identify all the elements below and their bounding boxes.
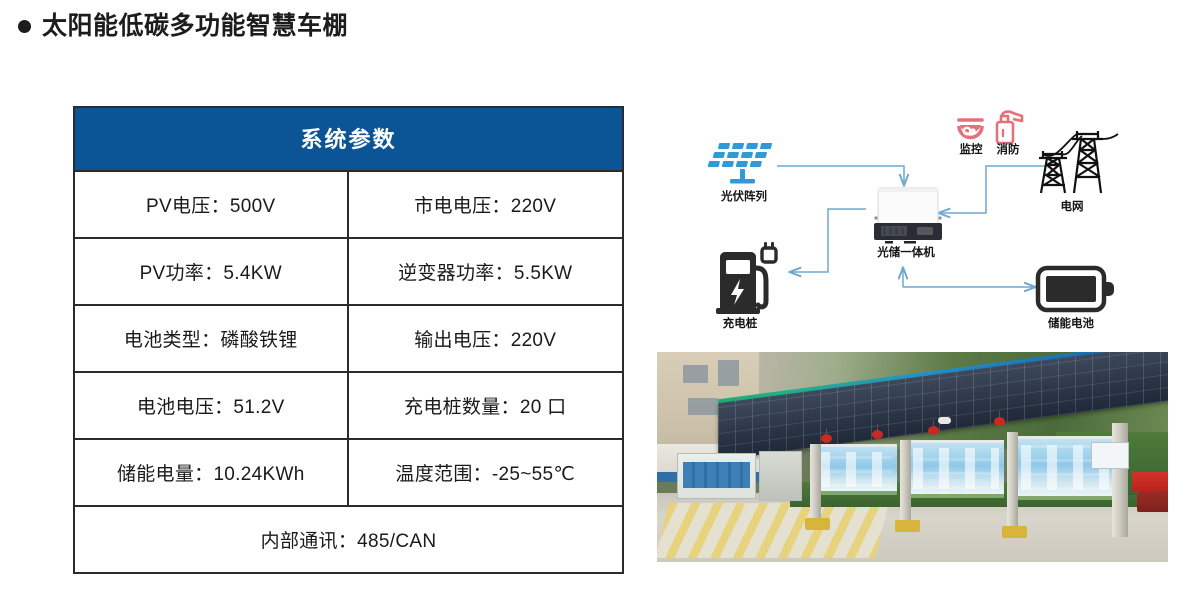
table-cell-temperature-range: 温度范围：-25~55℃	[349, 440, 623, 505]
photo-board-graphics	[820, 452, 892, 487]
table-cell-battery-type: 电池类型：磷酸铁锂	[75, 306, 349, 371]
photo-parked-car	[1137, 491, 1168, 512]
flow-pv-to-unit	[777, 166, 904, 185]
photo-board-graphics	[913, 448, 998, 488]
page-title-text: 太阳能低碳多功能智慧车棚	[42, 14, 348, 39]
table-header: 系统参数	[75, 108, 622, 172]
table-row: PV功率：5.4KW 逆变器功率：5.5KW	[75, 239, 622, 306]
table-row: PV电压：500V 市电电压：220V	[75, 172, 622, 239]
system-parameters-table: 系统参数 PV电压：500V 市电电压：220V PV功率：5.4KW 逆变器功…	[73, 106, 624, 574]
page-title: 太阳能低碳多功能智慧车棚	[18, 14, 348, 39]
transmission-tower-icon	[1039, 131, 1118, 193]
label-pv-array: 光伏阵列	[720, 189, 767, 203]
label-hybrid-unit: 光储一体机	[876, 245, 935, 259]
photo-notice-sign	[1091, 442, 1129, 469]
photo-equipment-cabinet	[759, 451, 802, 501]
table-cell-storage-capacity: 储能电量：10.24KWh	[75, 440, 349, 505]
table-cell-output-voltage: 输出电压：220V	[349, 306, 623, 371]
battery-icon	[1038, 268, 1114, 310]
table-cell-pv-voltage: PV电压：500V	[75, 172, 349, 237]
table-cell-inverter-power: 逆变器功率：5.5KW	[349, 239, 623, 304]
photo-info-board	[815, 444, 897, 495]
label-battery: 储能电池	[1048, 316, 1094, 330]
table-cell-internal-comm: 内部通讯：485/CAN	[75, 507, 622, 572]
label-power-grid: 电网	[1061, 199, 1084, 213]
fire-extinguisher-icon	[997, 112, 1022, 143]
photo-lantern	[872, 430, 883, 439]
system-flow-diagram: 光伏阵列 监控 消防 电网	[690, 105, 1170, 340]
photo-equipment-cabinet	[677, 453, 756, 499]
photo-cabinet-doors	[683, 462, 750, 488]
photo-building-window	[683, 365, 709, 384]
table-cell-charger-count: 充电桩数量：20 口	[349, 373, 623, 438]
label-fire-safety: 消防	[997, 142, 1020, 156]
photo-content	[657, 352, 1168, 562]
flow-grid-to-unit	[939, 166, 1045, 213]
photo-parking-bay	[657, 503, 889, 558]
photo-canopy-column	[1007, 432, 1018, 529]
table-row: 电池类型：磷酸铁锂 输出电压：220V	[75, 306, 622, 373]
filled-circle-bullet-icon	[18, 20, 31, 33]
table-row: 内部通讯：485/CAN	[75, 507, 622, 572]
table-row: 储能电量：10.24KWh 温度范围：-25~55℃	[75, 440, 622, 507]
inverter-cabinet-icon	[874, 188, 942, 244]
label-charging-pile: 充电桩	[723, 316, 758, 330]
label-monitoring: 监控	[960, 142, 983, 156]
photo-column-base	[1002, 526, 1027, 538]
table-row: 电池电压：51.2V 充电桩数量：20 口	[75, 373, 622, 440]
photo-canopy-column	[1112, 423, 1128, 536]
photo-info-board	[907, 440, 1004, 497]
photo-building-window	[688, 398, 719, 415]
table-cell-pv-power: PV功率：5.4KW	[75, 239, 349, 304]
photo-lantern	[821, 434, 832, 443]
solar-carport-photo	[657, 352, 1168, 562]
photo-security-camera	[938, 417, 951, 424]
photo-canopy-column	[810, 444, 821, 520]
solar-panel-icon	[708, 143, 773, 184]
photo-lantern	[928, 426, 939, 435]
photo-red-banner	[1132, 472, 1168, 491]
photo-building-window	[718, 360, 738, 385]
flow-unit-to-charger	[790, 209, 866, 272]
photo-canopy-column	[900, 440, 911, 522]
table-cell-battery-voltage: 电池电压：51.2V	[75, 373, 349, 438]
ev-charger-icon	[716, 242, 776, 314]
photo-column-base	[805, 518, 830, 530]
photo-column-base	[895, 520, 920, 532]
table-cell-mains-voltage: 市电电压：220V	[349, 172, 623, 237]
